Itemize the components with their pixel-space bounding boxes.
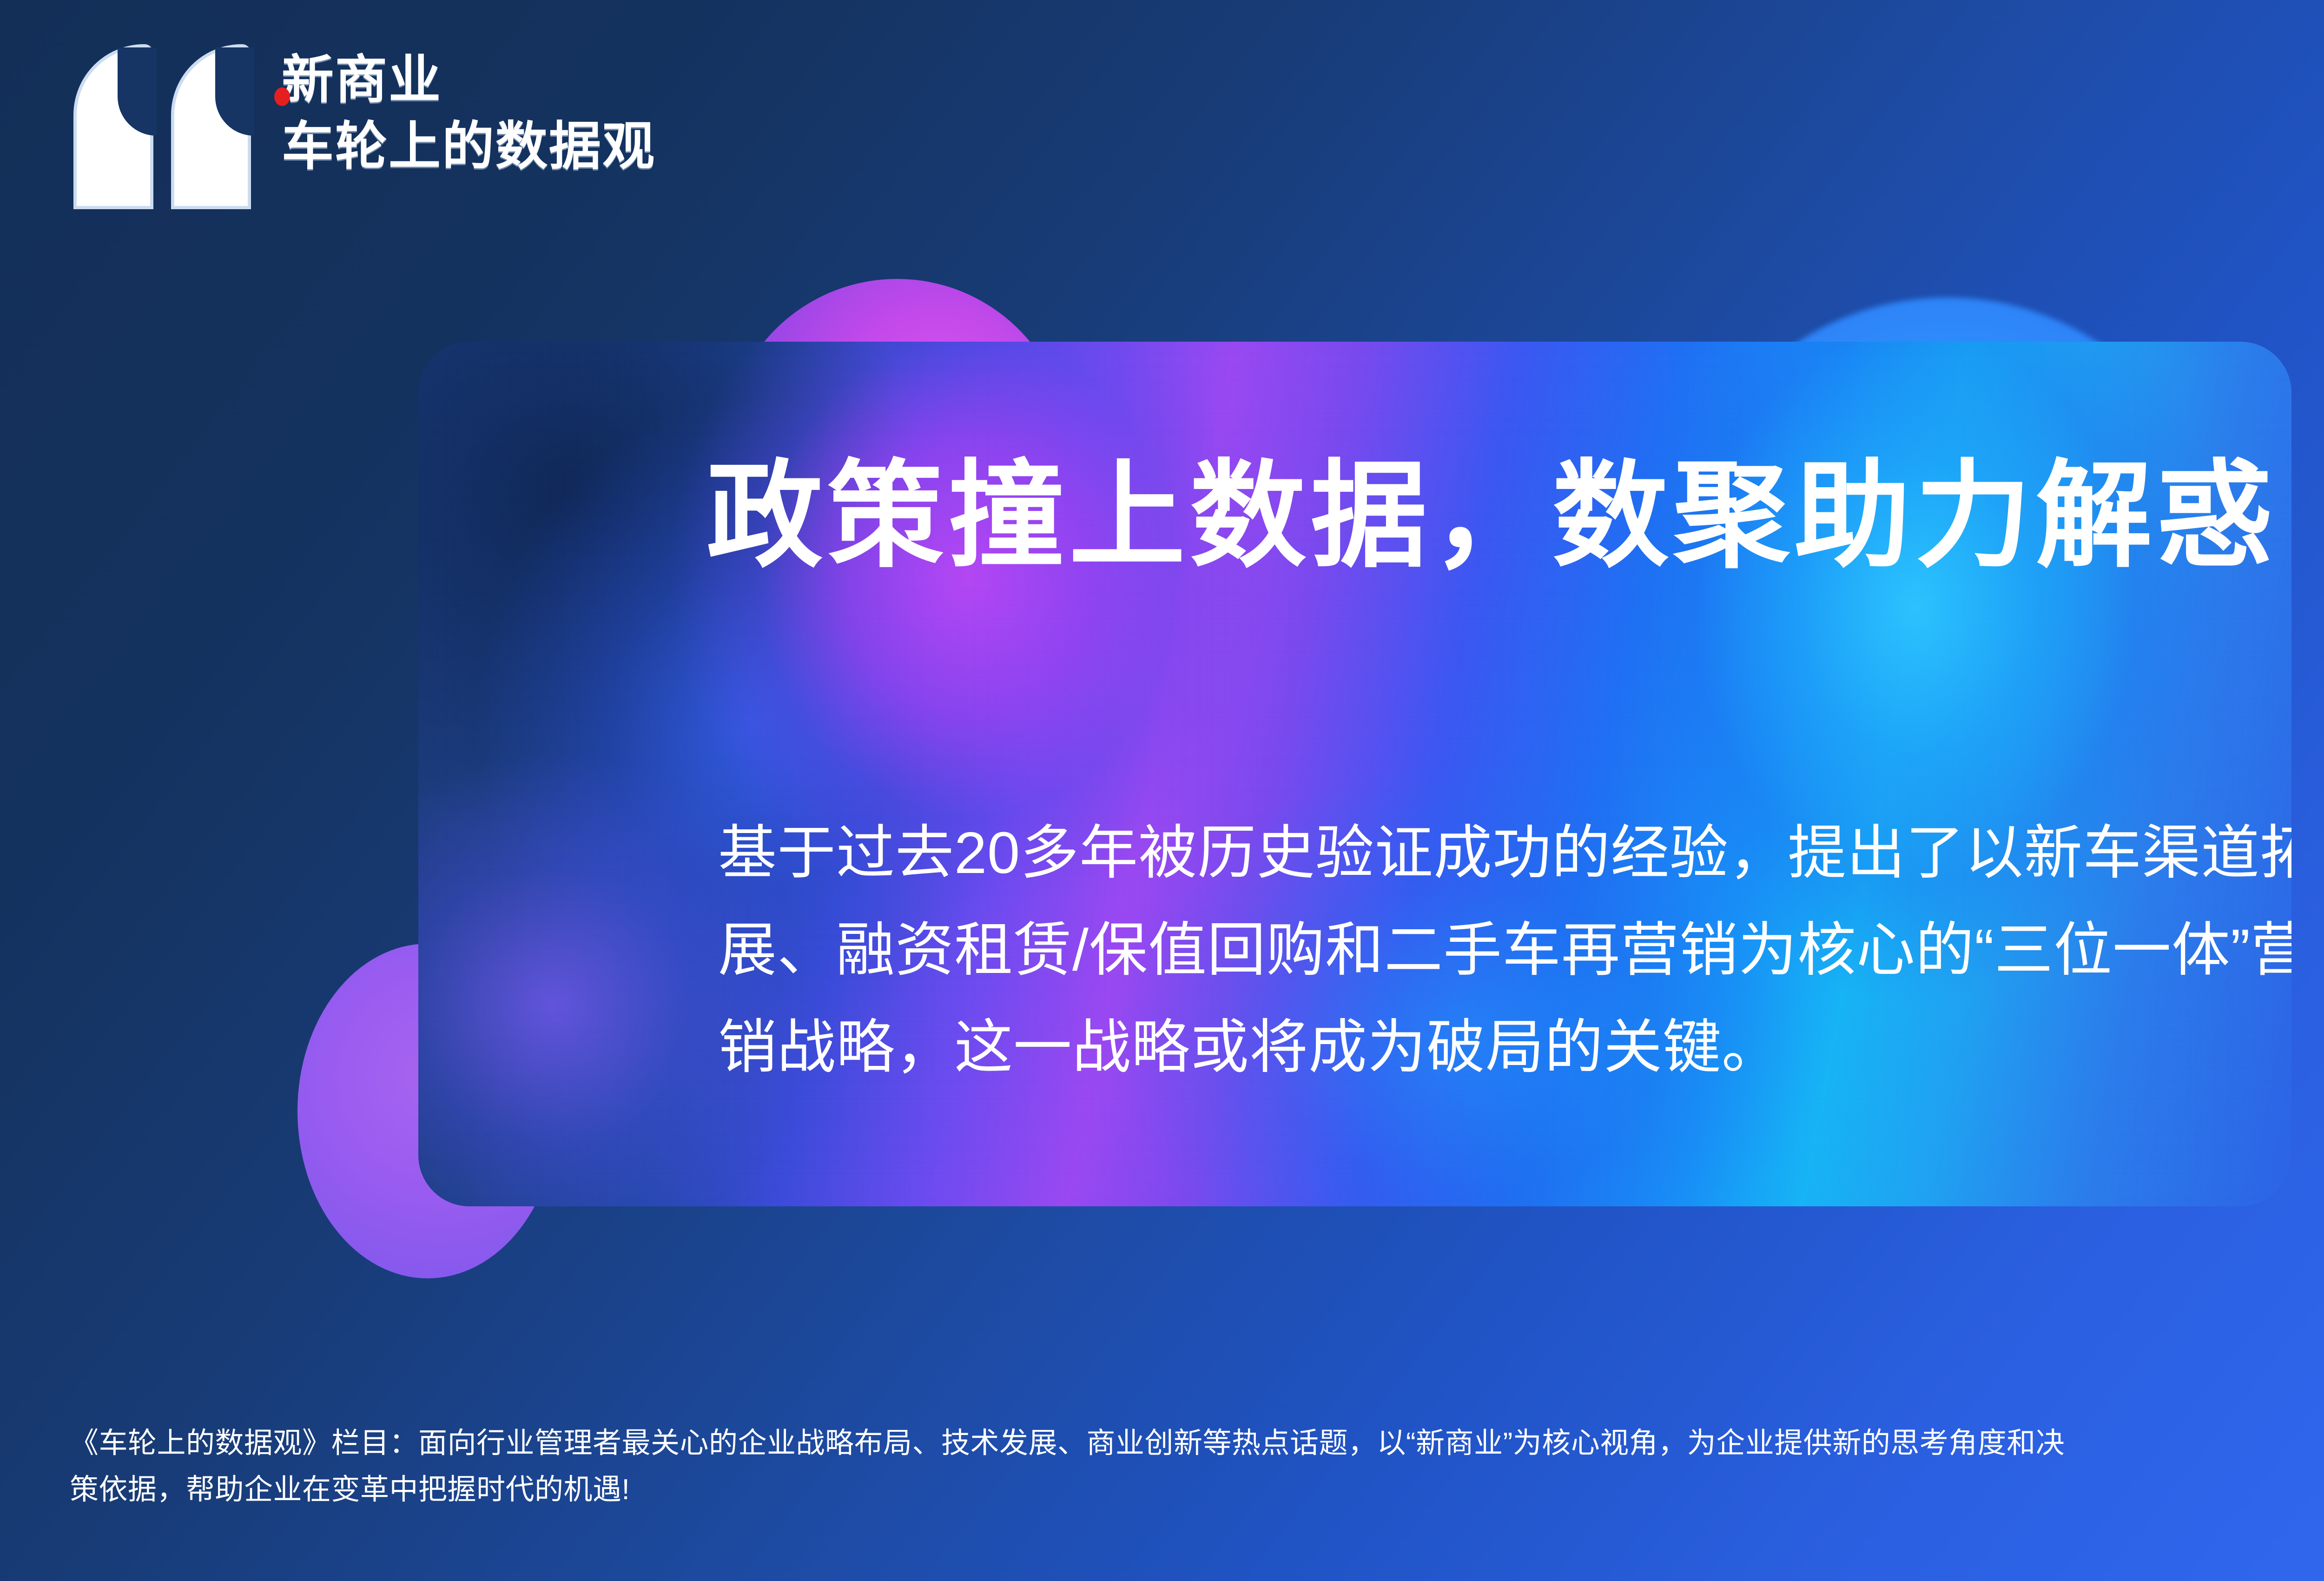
brand-text-group: 新商业 车轮上的数据观 [282,44,656,176]
quote-glyph-right [171,44,251,209]
headline-card: 政策撞上数据，数聚助力解惑 基于过去20多年被历史验证成功的经验，提出了以新车渠… [418,342,2291,1206]
body-copy: 基于过去20多年被历史验证成功的经验，提出了以新车渠道拓 展、融资租赁/保值回购… [718,804,2187,1096]
body-line: 展、融资租赁/保值回购和二手车再营销为核心的“三位一体”营 [718,901,2187,999]
page-title: 政策撞上数据，数聚助力解惑 [706,458,2278,574]
brand-column-name: 车轮上的数据观 [282,117,656,175]
footer-line: 策依据，帮助企业在变革中把握时代的机遇! [70,1467,2324,1513]
brand-name: 新商业 [282,51,442,109]
poster-canvas: 新商业 车轮上的数据观 政策撞上数据，数聚助力解惑 基于过去20多年被历史验证成… [0,0,2324,1581]
body-line: 销战略，这一战略或将成为破局的关键。 [718,999,2187,1096]
quote-glyph-left [73,44,153,209]
body-line: 基于过去20多年被历史验证成功的经验，提出了以新车渠道拓 [718,804,2187,901]
brand-lockup: 新商业 车轮上的数据观 [65,44,656,209]
quote-open-icon [65,44,251,209]
footer-line: 《车轮上的数据观》栏目：面向行业管理者最关心的企业战略布局、技术发展、商业创新等… [70,1420,2324,1467]
footer-description: 《车轮上的数据观》栏目：面向行业管理者最关心的企业战略布局、技术发展、商业创新等… [70,1420,2324,1514]
brand-name-wrapper: 新商业 [282,51,442,109]
